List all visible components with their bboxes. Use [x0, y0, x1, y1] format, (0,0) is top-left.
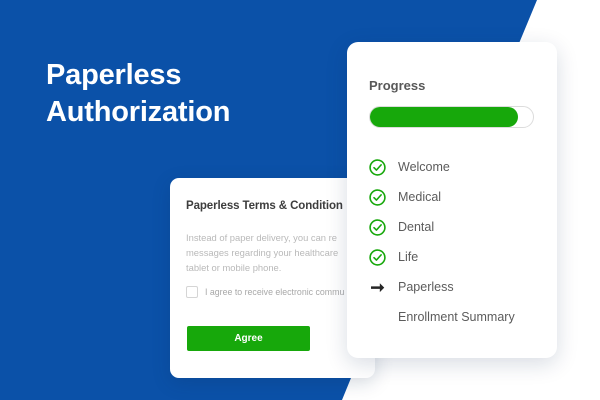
step-row-paperless[interactable]: ➞Paperless — [369, 272, 549, 302]
step-row-enrollment-summary[interactable]: Enrollment Summary — [369, 302, 549, 332]
agree-checkbox-row[interactable]: I agree to receive electronic commu — [186, 286, 344, 298]
step-row-dental[interactable]: Dental — [369, 212, 549, 242]
agree-button[interactable]: Agree — [187, 326, 310, 351]
enrollment-step-list: WelcomeMedicalDentalLife➞PaperlessEnroll… — [369, 152, 549, 332]
check-circle-icon — [369, 219, 386, 236]
check-circle-icon — [369, 249, 386, 266]
agree-checkbox[interactable] — [186, 286, 198, 298]
step-label: Paperless — [398, 280, 454, 294]
step-label: Enrollment Summary — [398, 310, 515, 324]
page-title: Paperless Authorization — [46, 57, 230, 131]
progress-bar-track — [369, 106, 534, 128]
step-label: Dental — [398, 220, 434, 234]
step-row-medical[interactable]: Medical — [369, 182, 549, 212]
step-row-life[interactable]: Life — [369, 242, 549, 272]
arrow-right-icon: ➞ — [369, 279, 386, 296]
step-label: Life — [398, 250, 418, 264]
progress-label: Progress — [369, 78, 425, 93]
check-circle-icon — [369, 159, 386, 176]
paperless-authorization-screen: Paperless Authorization Paperless Terms … — [0, 0, 600, 400]
progress-card: Progress WelcomeMedicalDentalLife➞Paperl… — [347, 42, 557, 358]
progress-bar-fill — [370, 107, 518, 127]
step-row-welcome[interactable]: Welcome — [369, 152, 549, 182]
paperless-terms-card: Paperless Terms & Condition Instead of p… — [170, 178, 375, 378]
agree-checkbox-label: I agree to receive electronic commu — [205, 287, 344, 297]
step-icon-placeholder — [369, 309, 386, 326]
check-circle-icon — [369, 189, 386, 206]
step-label: Welcome — [398, 160, 450, 174]
step-label: Medical — [398, 190, 441, 204]
terms-card-title: Paperless Terms & Condition — [186, 200, 343, 212]
